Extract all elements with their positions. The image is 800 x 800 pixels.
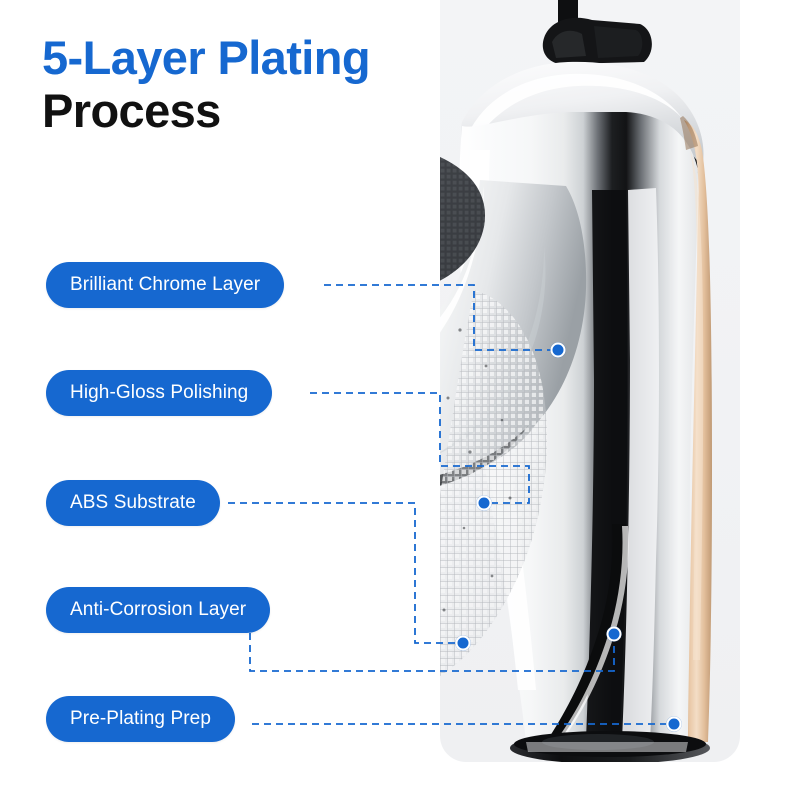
product-image-card <box>440 0 740 762</box>
label-text: Anti-Corrosion Layer <box>70 599 246 621</box>
label-text: Brilliant Chrome Layer <box>70 274 260 296</box>
title-line-primary: 5-Layer Plating <box>42 32 472 85</box>
chrome-faucet-illustration <box>440 0 740 762</box>
label-text: ABS Substrate <box>70 492 196 514</box>
label-brilliant-chrome-layer[interactable]: Brilliant Chrome Layer <box>46 262 284 308</box>
label-text: Pre-Plating Prep <box>70 708 211 730</box>
label-high-gloss-polishing[interactable]: High-Gloss Polishing <box>46 370 272 416</box>
title-line-secondary: Process <box>42 85 472 138</box>
label-text: High-Gloss Polishing <box>70 382 248 404</box>
infographic-canvas: 5-Layer Plating Process Brilliant Chrome… <box>0 0 800 800</box>
faucet-stem <box>543 0 652 64</box>
hotspot-abs-substrate[interactable] <box>456 636 471 651</box>
faucet-base <box>510 731 710 762</box>
hotspot-pre-plating-prep[interactable] <box>667 717 682 732</box>
hotspot-high-gloss-polishing[interactable] <box>477 496 492 511</box>
hotspot-anti-corrosion-layer[interactable] <box>607 627 622 642</box>
label-abs-substrate[interactable]: ABS Substrate <box>46 480 220 526</box>
label-anti-corrosion-layer[interactable]: Anti-Corrosion Layer <box>46 587 270 633</box>
label-pre-plating-prep[interactable]: Pre-Plating Prep <box>46 696 235 742</box>
hotspot-brilliant-chrome-layer[interactable] <box>551 343 566 358</box>
page-title: 5-Layer Plating Process <box>42 32 472 137</box>
